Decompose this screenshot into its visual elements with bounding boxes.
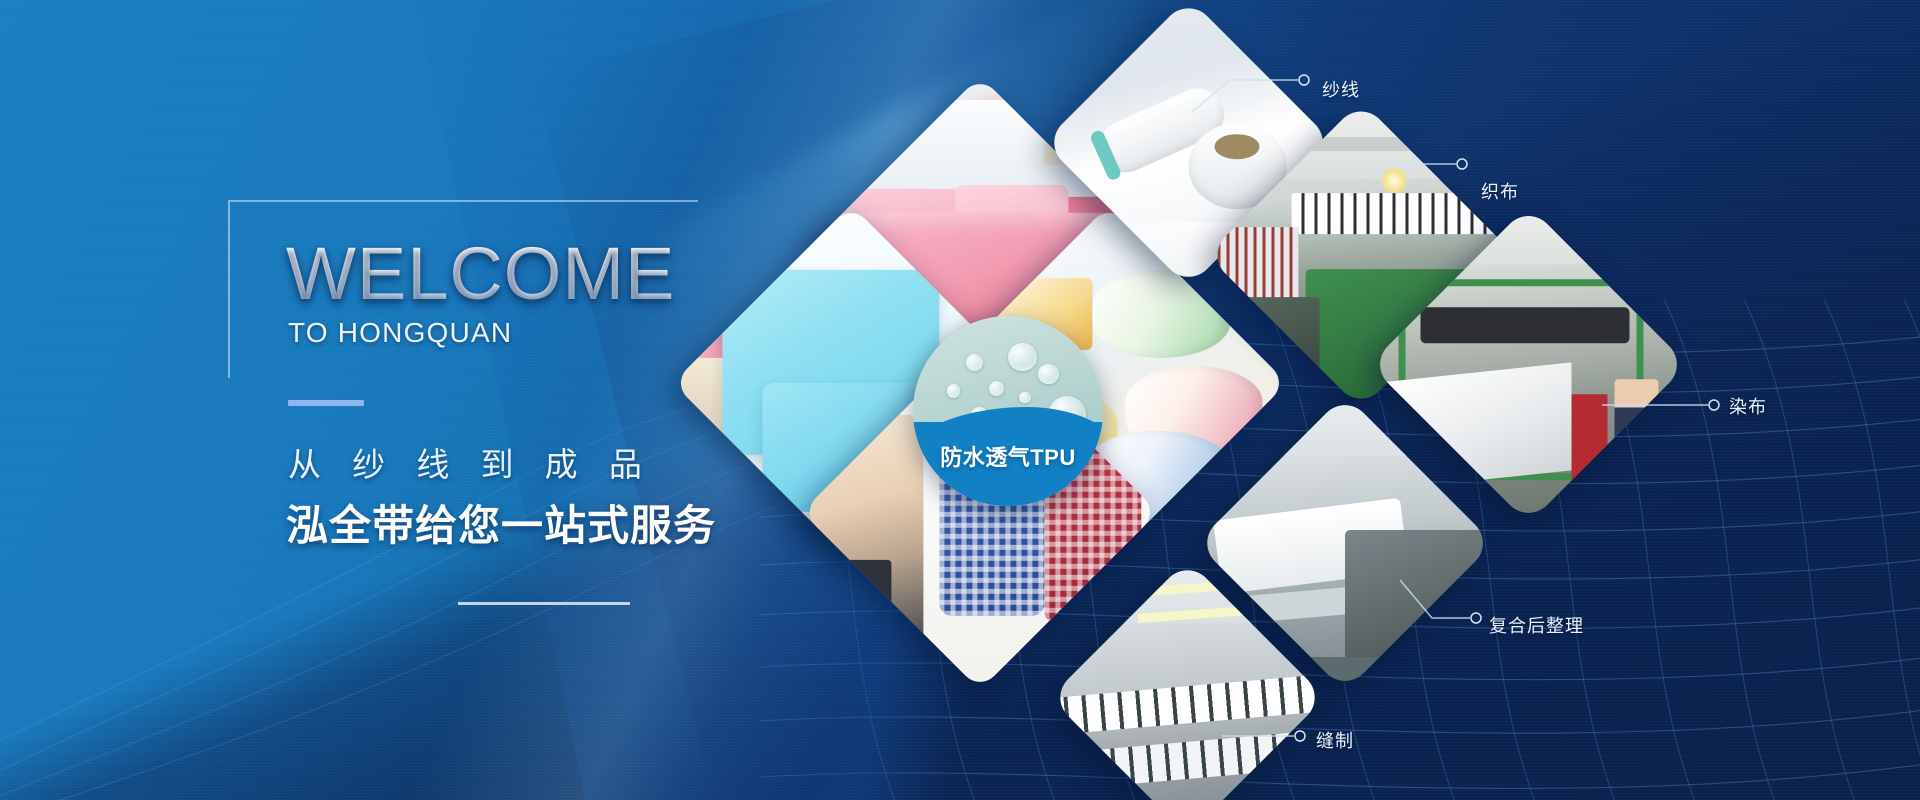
divider-accent: [288, 400, 364, 406]
process-label-finishing: 复合后整理: [1489, 612, 1584, 638]
divider-bottom: [458, 602, 630, 605]
process-label-sewing: 缝制: [1316, 727, 1354, 753]
page-title: WELCOME: [286, 234, 675, 314]
connector-line-dyeing: [1600, 392, 1740, 422]
process-label-dyeing: 染布: [1729, 393, 1767, 419]
hero-banner: WELCOME TO HONGQUAN 从 纱 线 到 成 品 泓全带给您一站式…: [0, 0, 1920, 800]
process-label-yarn: 纱线: [1322, 76, 1360, 102]
process-label-weaving: 织布: [1481, 178, 1519, 204]
headline-cn: 泓全带给您一站式服务: [286, 500, 716, 552]
page-subtitle: TO HONGQUAN: [288, 316, 512, 350]
tagline-cn: 从 纱 线 到 成 品: [288, 444, 653, 486]
connector-line-sewing: [1220, 710, 1330, 750]
tpu-feature-badge[interactable]: 防水透气TPU: [913, 316, 1103, 506]
tpu-badge-label: 防水透气TPU: [913, 440, 1103, 472]
